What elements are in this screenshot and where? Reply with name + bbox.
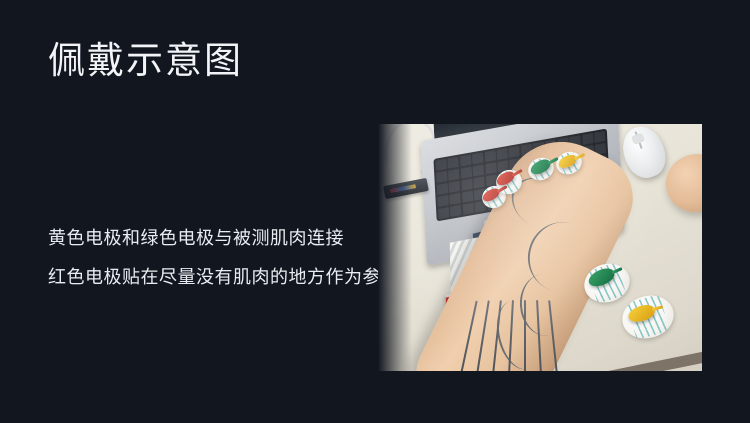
caption-block: 黄色电极和绿色电极与被测肌肉连接 红色电极贴在尽量没有肌肉的地方作为参考 <box>48 219 408 297</box>
photo-scene <box>378 124 702 371</box>
wire-bundle <box>462 300 592 371</box>
wearing-demo-photo <box>378 124 702 371</box>
slide-root: 佩戴示意图 黄色电极和绿色电极与被测肌肉连接 红色电极贴在尽量没有肌肉的地方作为… <box>0 0 750 423</box>
page-title: 佩戴示意图 <box>48 38 243 84</box>
caption-line-1: 黄色电极和绿色电极与被测肌肉连接 <box>48 219 408 258</box>
caption-line-2: 红色电极贴在尽量没有肌肉的地方作为参考 <box>48 258 408 297</box>
